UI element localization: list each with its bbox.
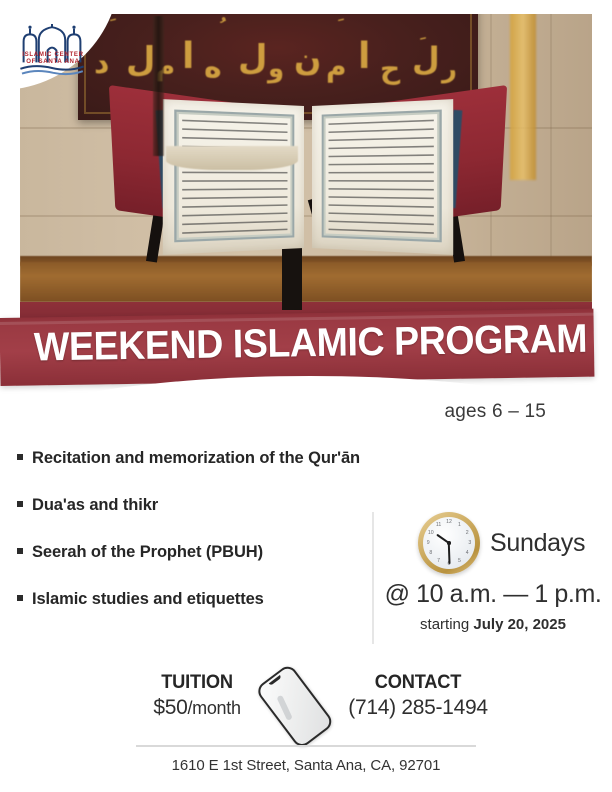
list-item-label: Recitation and memorization of the Qur'ā… — [32, 449, 360, 468]
clock-numeral: 8 — [429, 550, 432, 556]
list-item: Recitation and memorization of the Qur'ā… — [17, 449, 362, 468]
open-quran-pages — [170, 106, 446, 246]
clock-center-pin — [447, 541, 451, 545]
wooden-ledge — [20, 262, 592, 302]
list-item-label: Seerah of the Prophet (PBUH) — [32, 543, 263, 562]
clock-numeral: 11 — [436, 522, 441, 528]
title-banner: WEEKEND ISLAMIC PROGRAM — [0, 309, 594, 386]
starting-date: July 20, 2025 — [473, 616, 566, 633]
contact-block: CONTACT (714) 285-1494 — [318, 672, 518, 720]
schedule-block: 12 1 2 3 4 5 6 7 8 9 10 11 Sundays @ 10 … — [382, 512, 604, 633]
hero-photo: د ل م ا ه ل و ن م ا ح ل ر َ ُ َ ِ — [20, 14, 592, 328]
bullet-square-icon — [17, 595, 23, 601]
quran-page-left — [163, 99, 304, 255]
bullet-square-icon — [17, 548, 23, 554]
book-spine — [153, 16, 164, 156]
clock-numeral: 3 — [468, 540, 471, 546]
tuition-period: /month — [187, 698, 240, 718]
logo-line-2: OF SANTA ANA — [22, 59, 84, 66]
bullet-square-icon — [17, 501, 23, 507]
clock-numeral: 1 — [458, 522, 461, 528]
age-range-label: ages 6 – 15 — [444, 401, 546, 423]
gold-wall-strip — [510, 14, 536, 180]
phone-screen-glare — [276, 695, 292, 721]
schedule-day: Sundays — [490, 529, 585, 558]
clock-numeral: 2 — [466, 530, 469, 536]
clock-minute-hand — [448, 543, 451, 564]
clock-numeral: 9 — [427, 540, 430, 546]
clock-numeral: 7 — [437, 558, 440, 564]
organization-logo — [18, 24, 86, 76]
arabic-text-lines — [329, 120, 434, 235]
clock-and-day-row: 12 1 2 3 4 5 6 7 8 9 10 11 Sundays — [382, 512, 604, 574]
vertical-divider — [372, 512, 374, 644]
list-item: Dua'as and thikr — [17, 496, 362, 515]
tuition-amount: $50 — [153, 696, 187, 719]
clock-numeral: 4 — [466, 550, 469, 556]
quran-page-right — [312, 99, 453, 255]
horizontal-divider — [136, 745, 476, 747]
page-title: WEEKEND ISLAMIC PROGRAM — [34, 317, 588, 371]
phone-notch — [269, 675, 282, 686]
tuition-block: TUITION $50/month — [122, 672, 272, 720]
mosque-icon — [18, 24, 86, 76]
contact-phone[interactable]: (714) 285-1494 — [318, 696, 518, 720]
clock-numeral: 12 — [446, 519, 452, 525]
schedule-start: starting July 20, 2025 — [382, 616, 604, 633]
list-item: Seerah of the Prophet (PBUH) — [17, 543, 362, 562]
page-stack — [166, 146, 298, 170]
list-item-label: Islamic studies and etiquettes — [32, 590, 264, 609]
clock-icon: 12 1 2 3 4 5 6 7 8 9 10 11 — [418, 512, 480, 574]
logo-wordmark: ISLAMIC CENTER OF SANTA ANA — [22, 52, 84, 66]
list-item: Islamic studies and etiquettes — [17, 590, 362, 609]
program-points-list: Recitation and memorization of the Qur'ā… — [17, 449, 362, 637]
clock-numeral: 10 — [428, 530, 434, 536]
bullet-square-icon — [17, 454, 23, 460]
arabic-text-lines — [182, 120, 287, 235]
starting-prefix: starting — [420, 616, 473, 633]
clock-face: 12 1 2 3 4 5 6 7 8 9 10 11 — [423, 517, 475, 569]
contact-label: CONTACT — [322, 672, 514, 694]
list-item-label: Dua'as and thikr — [32, 496, 158, 515]
tuition-amount-row: $50/month — [122, 696, 272, 720]
clock-numeral: 5 — [458, 558, 461, 564]
tuition-label: TUITION — [125, 672, 269, 694]
logo-waves — [20, 66, 83, 74]
address-line: 1610 E 1st Street, Santa Ana, CA, 92701 — [0, 757, 612, 774]
schedule-time: @ 10 a.m. — 1 p.m. — [382, 580, 604, 609]
